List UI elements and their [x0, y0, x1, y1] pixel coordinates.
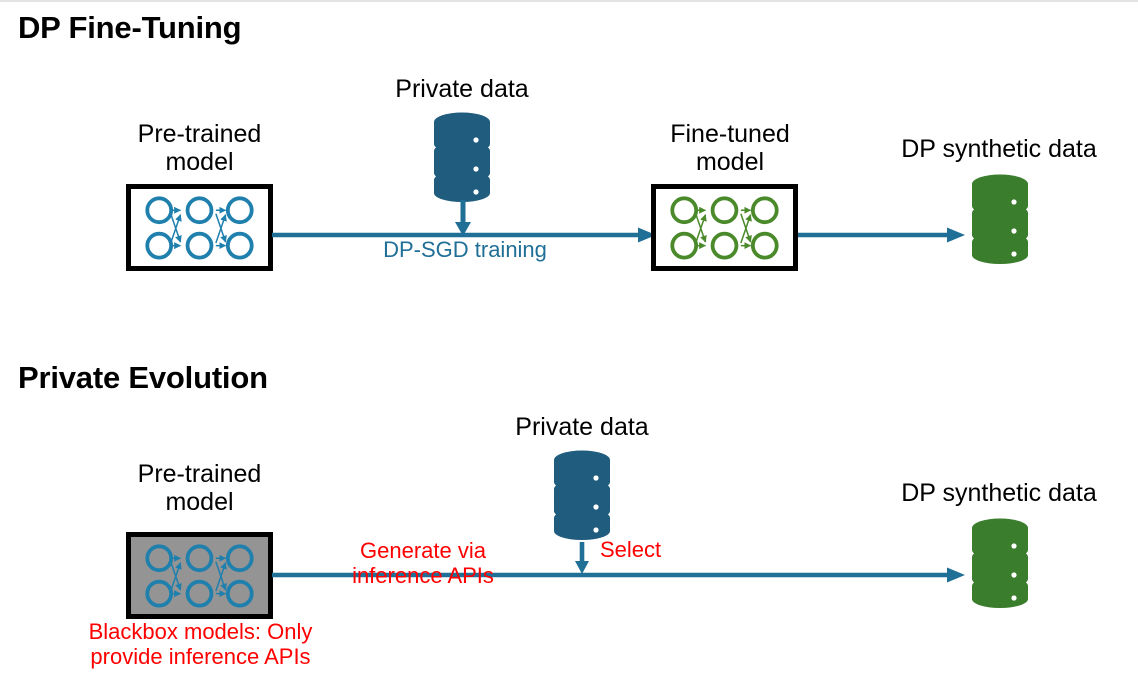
private-data-db-top [430, 110, 494, 202]
finetuned-model-label: Fine-tuned model [640, 120, 820, 176]
diagram-canvas: DP Fine-Tuning Pre-trained model [0, 0, 1138, 676]
database-green-icon [968, 172, 1032, 264]
section-title-private-evolution: Private Evolution [18, 360, 268, 396]
database-blue-icon [430, 110, 494, 202]
neural-network-green-icon [656, 189, 793, 266]
pretrained-model-label-bottom: Pre-trained model [112, 460, 287, 516]
dp-synthetic-data-db-top [968, 172, 1032, 264]
dp-synthetic-data-label-top: DP synthetic data [868, 135, 1130, 163]
finetuned-to-synthetic-arrow [798, 226, 966, 244]
private-data-label-top: Private data [372, 75, 552, 103]
private-data-db-bottom [550, 448, 614, 540]
blackbox-model-box [126, 532, 273, 619]
section-title-dp-fine-tuning: DP Fine-Tuning [18, 10, 241, 46]
arrow-right-icon [798, 226, 966, 244]
pretrained-model-box-top [126, 184, 273, 271]
select-label: Select [600, 537, 710, 562]
neural-network-blackbox-icon [131, 537, 268, 614]
dp-synthetic-data-db-bottom [968, 516, 1032, 608]
database-blue-icon [550, 448, 614, 540]
blackbox-models-note: Blackbox models: Only provide inference … [38, 619, 363, 670]
dp-sgd-training-label: DP-SGD training [300, 237, 630, 262]
finetuned-model-box [651, 184, 798, 271]
private-data-label-bottom: Private data [492, 413, 672, 441]
neural-network-blue-icon [131, 189, 268, 266]
database-green-icon [968, 516, 1032, 608]
pretrained-model-label-top: Pre-trained model [112, 120, 287, 176]
generate-via-inference-apis-label: Generate via inference APIs [328, 538, 518, 589]
dp-synthetic-data-label-bottom: DP synthetic data [868, 479, 1130, 507]
